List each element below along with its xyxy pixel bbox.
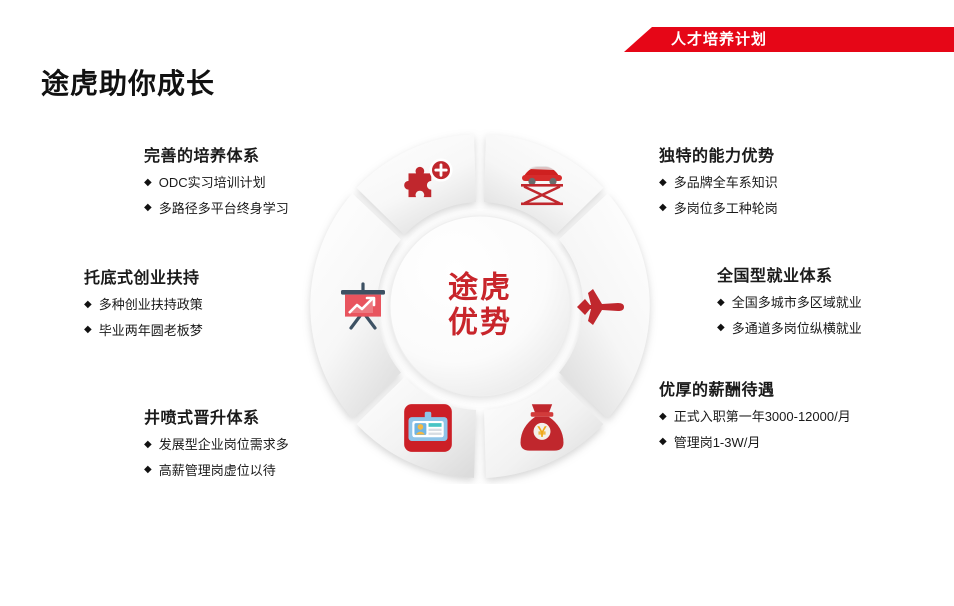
bullet-item: ◆ 多通道多岗位纵横就业 (717, 321, 862, 337)
car-lift-icon (516, 156, 568, 208)
bullet-text: 发展型企业岗位需求多 (159, 437, 289, 453)
bullet-item: ◆ 全国多城市多区域就业 (717, 295, 862, 311)
petal-diagram: 途虎 优势 (302, 128, 658, 484)
bullet-item: ◆ 多品牌全车系知识 (659, 175, 778, 191)
bullet-text: 高薪管理岗虚位以待 (159, 463, 276, 479)
diamond-bullet-icon: ◆ (144, 440, 152, 450)
text-block-startup-support: 托底式创业扶持 ◆ 多种创业扶持政策 ◆ 毕业两年圆老板梦 (84, 264, 203, 348)
diamond-bullet-icon: ◆ (659, 203, 667, 213)
bullet-text: 全国多城市多区域就业 (732, 295, 862, 311)
diamond-bullet-icon: ◆ (84, 300, 92, 310)
airplane-icon (574, 281, 626, 333)
bullet-text: 多品牌全车系知识 (674, 175, 778, 191)
header-banner-label: 人才培养计划 (671, 32, 767, 47)
text-block-ability-advantage: 独特的能力优势 ◆ 多品牌全车系知识 ◆ 多岗位多工种轮岗 (659, 142, 778, 226)
diamond-bullet-icon: ◆ (659, 178, 667, 188)
presentation-chart-icon (337, 281, 389, 333)
bullet-item: ◆ 多岗位多工种轮岗 (659, 201, 778, 217)
bullet-item: ◆ 高薪管理岗虚位以待 (144, 463, 289, 479)
block-heading: 完善的培养体系 (144, 142, 289, 166)
svg-text:￥: ￥ (535, 425, 549, 440)
block-heading: 独特的能力优势 (659, 142, 778, 166)
text-block-promotion-system: 井喷式晋升体系 ◆ 发展型企业岗位需求多 ◆ 高薪管理岗虚位以待 (144, 404, 289, 488)
diamond-bullet-icon: ◆ (659, 437, 667, 447)
text-block-salary-benefits: 优厚的薪酬待遇 ◆ 正式入职第一年3000-12000/月 ◆ 管理岗1-3W/… (659, 376, 851, 460)
block-heading: 优厚的薪酬待遇 (659, 376, 851, 400)
diamond-bullet-icon: ◆ (659, 412, 667, 422)
text-block-training-system: 完善的培养体系 ◆ ODC实习培训计划 ◆ 多路径多平台终身学习 (144, 142, 289, 226)
header-banner: 人才培养计划 (624, 27, 954, 52)
bullet-text: ODC实习培训计划 (159, 175, 266, 191)
block-heading: 托底式创业扶持 (84, 264, 203, 288)
bullet-text: 多路径多平台终身学习 (159, 201, 289, 217)
bullet-text: 多岗位多工种轮岗 (674, 201, 778, 217)
diamond-bullet-icon: ◆ (717, 298, 725, 308)
diamond-bullet-icon: ◆ (144, 203, 152, 213)
diamond-bullet-icon: ◆ (717, 323, 725, 333)
diamond-bullet-icon: ◆ (84, 325, 92, 335)
bullet-item: ◆ 多路径多平台终身学习 (144, 201, 289, 217)
block-heading: 全国型就业体系 (717, 262, 862, 286)
money-bag-icon: ￥ (516, 402, 568, 454)
bullet-item: ◆ 管理岗1-3W/月 (659, 435, 851, 451)
page-title: 途虎助你成长 (41, 62, 215, 102)
bullet-item: ◆ 发展型企业岗位需求多 (144, 437, 289, 453)
bullet-item: ◆ 多种创业扶持政策 (84, 297, 203, 313)
bullet-text: 毕业两年圆老板梦 (99, 323, 203, 339)
puzzle-plus-icon (402, 156, 454, 208)
slide-canvas: 人才培养计划 途虎助你成长 完善的培养体系 ◆ ODC实习培训计划 ◆ 多路径多… (0, 0, 954, 531)
text-block-employment-system: 全国型就业体系 ◆ 全国多城市多区域就业 ◆ 多通道多岗位纵横就业 (717, 262, 862, 346)
block-heading: 井喷式晋升体系 (144, 404, 289, 428)
bullet-item: ◆ ODC实习培训计划 (144, 175, 289, 191)
bullet-text: 多种创业扶持政策 (99, 297, 203, 313)
diamond-bullet-icon: ◆ (144, 178, 152, 188)
bullet-text: 多通道多岗位纵横就业 (732, 321, 862, 337)
id-badge-icon (402, 402, 454, 454)
bullet-text: 正式入职第一年3000-12000/月 (674, 409, 851, 425)
bullet-item: ◆ 正式入职第一年3000-12000/月 (659, 409, 851, 425)
bullet-text: 管理岗1-3W/月 (674, 435, 761, 451)
bullet-item: ◆ 毕业两年圆老板梦 (84, 323, 203, 339)
diamond-bullet-icon: ◆ (144, 465, 152, 475)
